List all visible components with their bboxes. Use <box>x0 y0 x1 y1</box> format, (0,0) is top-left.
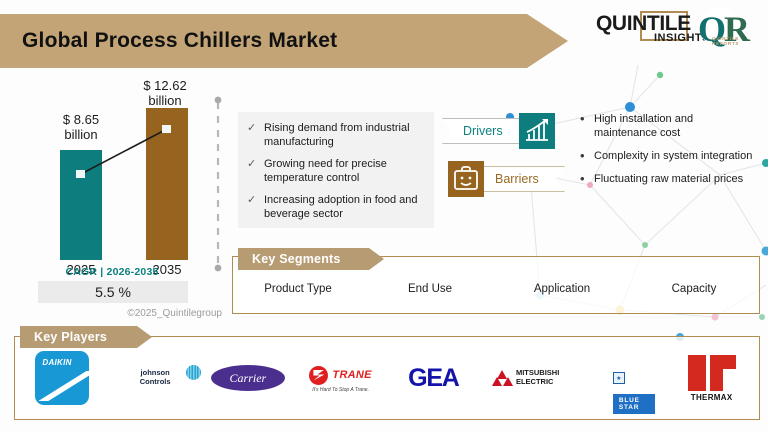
barriers-tag-label: Barriers <box>495 172 539 186</box>
cagr-value: 5.5 % <box>38 284 188 300</box>
segment-item: Application <box>496 283 628 305</box>
segment-item: Capacity <box>628 283 760 305</box>
barriers-tag[interactable]: Barriers <box>481 166 565 192</box>
gea-wordmark: GEA <box>408 364 459 393</box>
player-logo-gea: GEA <box>387 342 480 414</box>
bullet-icon: • <box>580 171 585 188</box>
drivers-checklist-panel: ✓ Rising demand from industrial manufact… <box>238 112 434 228</box>
player-logo-thermax: THERMAX <box>665 342 758 414</box>
bar-value-2025-unit: billion <box>30 127 132 142</box>
key-players-logos: DAIKIN johnson Controls Carrier TRANE It… <box>16 340 758 416</box>
segment-item: Product Type <box>232 283 364 305</box>
daikin-wordmark: DAIKIN <box>42 358 71 367</box>
list-item: ✓ Rising demand from industrial manufact… <box>246 121 426 149</box>
key-segments-tab-label: Key Segments <box>238 252 341 266</box>
list-item-label: Fluctuating raw material prices <box>594 173 743 185</box>
trane-tagline: It's Hard To Stop A Trane. <box>309 387 371 393</box>
bar-value-2035-amount: $ 12.62 <box>114 78 216 93</box>
market-size-bar-chart: $ 8.65 billion $ 12.62 billion 2025 2035 <box>26 80 198 260</box>
logo-monogram-subtext: QUINTILE REPORTS <box>712 36 762 46</box>
bullet-icon: • <box>580 111 585 128</box>
drivers-tag[interactable]: Drivers <box>442 118 520 144</box>
blue-star-wordmark: BLUE STAR <box>613 394 655 414</box>
daikin-slash-mark <box>38 371 89 401</box>
mitsubishi-three-diamonds-icon <box>493 370 513 386</box>
data-point-2035 <box>162 125 171 133</box>
list-item: • Complexity in system integration <box>578 149 756 163</box>
barriers-list: • High installation and maintenance cost… <box>578 112 756 195</box>
bar-value-label-2035: $ 12.62 billion <box>114 78 216 109</box>
mitsubishi-line2: ELECTRIC <box>516 378 559 387</box>
list-item: • High installation and maintenance cost <box>578 112 756 140</box>
player-logo-trane: TRANE It's Hard To Stop A Trane. <box>294 342 387 414</box>
player-logo-blue-star: ★ BLUE STAR <box>573 342 666 414</box>
bullet-icon: • <box>580 148 585 165</box>
key-segments-items: Product Type End Use Application Capacit… <box>232 283 760 305</box>
list-item-label: Increasing adoption in food and beverage… <box>264 194 418 220</box>
key-segments-tab: Key Segments <box>238 248 384 270</box>
drivers-tag-label: Drivers <box>463 124 503 138</box>
bar-value-2035-unit: billion <box>114 93 216 108</box>
blue-star-badge-icon: ★ <box>613 372 625 384</box>
player-logo-daikin: DAIKIN <box>16 342 109 414</box>
carrier-wordmark: Carrier <box>230 371 267 386</box>
list-item: ✓ Increasing adoption in food and bevera… <box>246 193 426 221</box>
page-title: Global Process Chillers Market <box>22 29 502 53</box>
trane-wordmark: TRANE <box>332 369 371 381</box>
growth-chart-icon <box>519 113 555 149</box>
player-logo-mitsubishi-electric: MITSUBISHI ELECTRIC <box>480 342 573 414</box>
check-icon: ✓ <box>247 193 256 207</box>
player-logo-carrier: Carrier <box>202 342 295 414</box>
trane-mark-icon <box>309 366 328 385</box>
list-item: ✓ Growing need for precise temperature c… <box>246 157 426 185</box>
bar-value-label-2025: $ 8.65 billion <box>30 112 132 143</box>
thermax-mark-icon <box>688 355 736 391</box>
johnson-controls-globe-icon <box>186 365 201 380</box>
copyright-notice: ©2025_Quintilegroup <box>26 308 222 319</box>
cagr-label: CAGR | 2026-2035 <box>26 266 198 278</box>
clipboard-icon <box>448 161 484 197</box>
list-item: • Fluctuating raw material prices <box>578 172 756 186</box>
thermax-wordmark: THERMAX <box>688 393 736 402</box>
player-logo-johnson-controls: johnson Controls <box>109 342 202 414</box>
list-item-label: Complexity in system integration <box>594 150 752 162</box>
data-point-2025 <box>76 170 85 178</box>
brand-logo: QUINTILE INSIGHTS Q R QUINTILE REPORTS <box>594 6 762 52</box>
infographic-canvas: Global Process Chillers Market QUINTILE … <box>0 0 768 432</box>
johnson-controls-line2: Controls <box>140 378 171 387</box>
list-item-label: Rising demand from industrial manufactur… <box>264 122 410 148</box>
key-players-tab: Key Players <box>20 326 152 348</box>
key-players-tab-label: Key Players <box>20 330 107 344</box>
list-item-label: High installation and maintenance cost <box>594 113 693 139</box>
segment-item: End Use <box>364 283 496 305</box>
list-item-label: Growing need for precise temperature con… <box>264 158 387 184</box>
bar-value-2025-amount: $ 8.65 <box>30 112 132 127</box>
check-icon: ✓ <box>247 157 256 171</box>
check-icon: ✓ <box>247 121 256 135</box>
vertical-dashed-divider <box>214 96 222 272</box>
